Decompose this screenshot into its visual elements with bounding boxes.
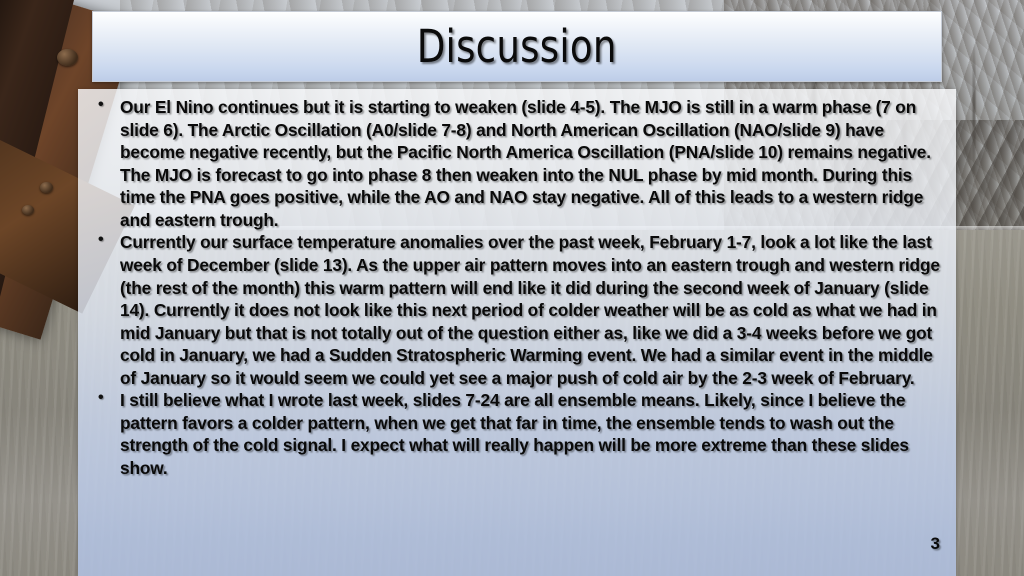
list-item: Our El Nino continues but it is starting… [92, 96, 946, 231]
slide-title: Discussion [417, 20, 617, 73]
list-item: I still believe what I wrote last week, … [92, 389, 946, 479]
bullet-list: Our El Nino continues but it is starting… [88, 96, 946, 480]
slide-content-box: Our El Nino continues but it is starting… [78, 89, 956, 576]
slide-number: 3 [931, 534, 940, 554]
list-item: Currently our surface temperature anomal… [92, 231, 946, 389]
presentation-slide: Discussion Our El Nino continues but it … [0, 0, 1024, 576]
background-bolt-1 [57, 49, 78, 66]
background-bolt-3 [22, 205, 34, 215]
background-bolt-2 [40, 182, 53, 193]
slide-title-bar: Discussion [92, 11, 942, 82]
